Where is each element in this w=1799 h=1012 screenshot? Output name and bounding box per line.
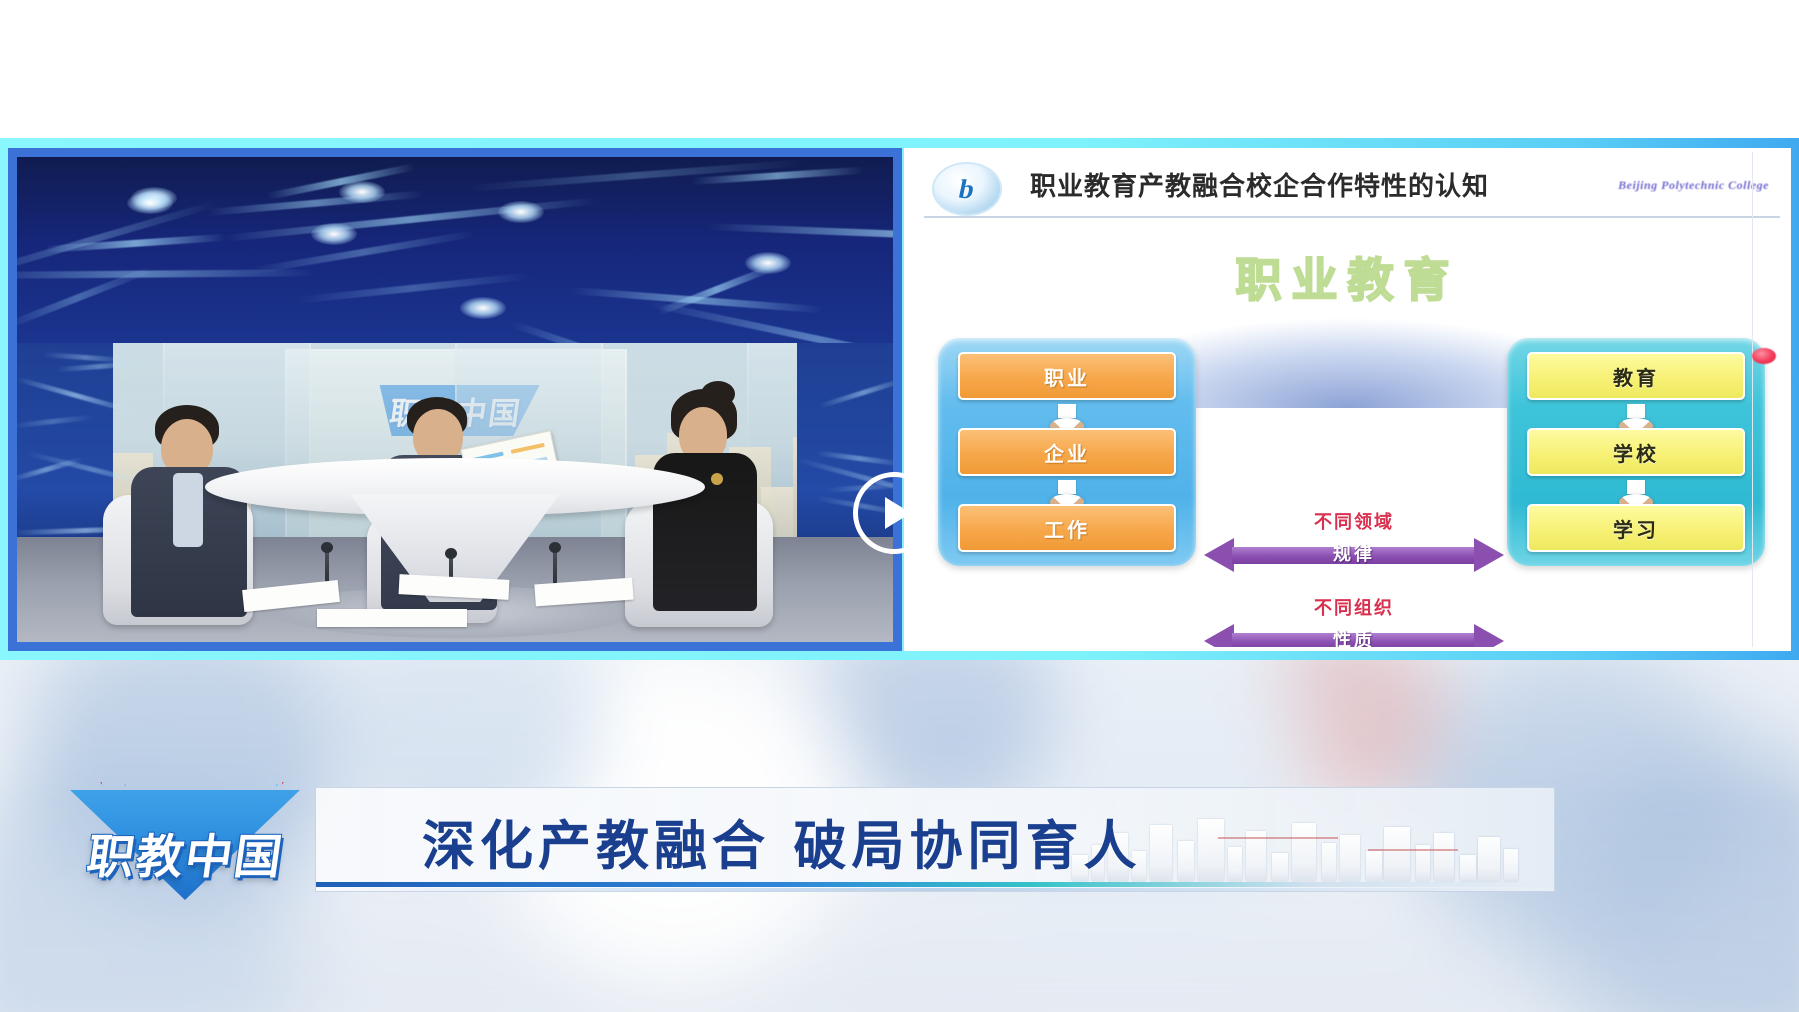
studio-ceiling	[17, 157, 893, 347]
program-logo: 职教中国	[28, 782, 338, 912]
middle-row-1: 不同领域 规律	[1204, 508, 1504, 582]
studio-video-panel[interactable]: 职教中国	[8, 148, 902, 651]
slide-header: b 职业教育产教融合校企合作特性的认知 Beijing Polytechnic …	[908, 152, 1787, 216]
slide-title: 职业教育产教融合校企合作特性的认知	[1030, 166, 1489, 203]
presentation-slide-panel[interactable]: b 职业教育产教融合校企合作特性的认知 Beijing Polytechnic …	[904, 148, 1791, 651]
program-logo-text: 职教中国	[31, 818, 341, 887]
table-papers-front	[317, 609, 467, 627]
middle-row-1-top-label: 不同领域	[1204, 508, 1504, 534]
diagram-middle-arrows: 不同领域 规律 不同组织 性质 不同生活 逻辑	[1204, 508, 1504, 651]
slide-diagram: 职业 企业 工作 不同领域 规律 不同组织 性	[908, 322, 1787, 602]
school-emblem-icon: b	[932, 162, 1002, 216]
slide-divider	[924, 216, 1780, 218]
cell-right-2: 学校	[1527, 428, 1745, 476]
diagram-right-group: 教育 学校 学习	[1507, 338, 1765, 566]
cell-left-3: 工作	[958, 504, 1176, 552]
middle-row-2-mid-label: 性质	[1204, 624, 1504, 651]
banner-underline	[316, 882, 1554, 887]
middle-row-1-mid-label: 规律	[1204, 538, 1504, 572]
cell-left-2: 企业	[958, 428, 1176, 476]
banner-title: 深化产教融合 破局协同育人	[422, 804, 1141, 880]
studio-scene: 职教中国	[17, 157, 893, 642]
diagram-left-group: 职业 企业 工作	[938, 338, 1196, 566]
cell-right-3: 学习	[1527, 504, 1745, 552]
lower-third-banner: 深化产教融合 破局协同育人	[315, 787, 1555, 892]
middle-row-2-top-label: 不同组织	[1204, 594, 1504, 620]
middle-row-2: 不同组织 性质	[1204, 594, 1504, 651]
slide-marker-dot[interactable]	[1752, 348, 1776, 364]
cell-left-1: 职业	[958, 352, 1176, 400]
cell-right-1: 教育	[1527, 352, 1745, 400]
play-icon[interactable]	[853, 472, 935, 554]
slide-scrollbar-track[interactable]	[1752, 152, 1753, 651]
banner-underline-secondary	[316, 888, 1554, 891]
slide-english-subtitle: Beijing Polytechnic College	[1618, 178, 1769, 193]
video-player-page: 职教中国	[0, 0, 1799, 1012]
